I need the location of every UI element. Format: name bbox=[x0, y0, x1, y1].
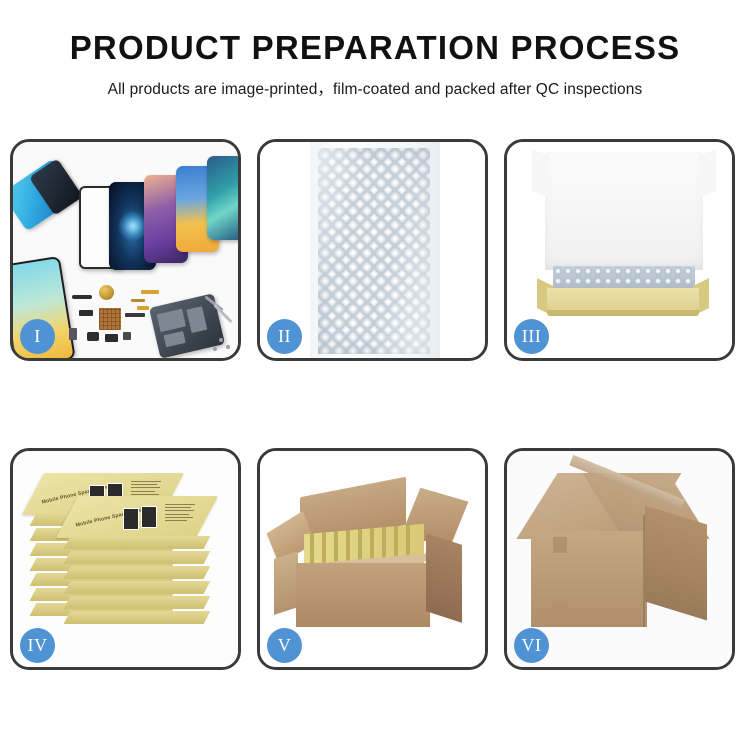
carton-front-face bbox=[296, 563, 430, 627]
vibration-motor-icon bbox=[99, 285, 114, 300]
logic-board-chip-icon bbox=[99, 308, 121, 330]
phone-teal-wallpaper-icon bbox=[207, 156, 238, 240]
sealed-carton-front-face bbox=[531, 531, 647, 627]
step-badge-6: VI bbox=[514, 628, 549, 663]
step-badge-1: I bbox=[20, 319, 55, 354]
step-badge-3: III bbox=[514, 319, 549, 354]
step-panel-1: I bbox=[10, 139, 241, 361]
carton-seam-tab-bottom bbox=[553, 603, 567, 619]
step-panel-4: Mobile Phone Spare Parts bbox=[10, 448, 241, 670]
power-button-flex-icon bbox=[131, 299, 145, 302]
antenna-flex-icon bbox=[125, 313, 145, 317]
retail-box-side-face bbox=[64, 566, 211, 579]
speaker-icon bbox=[87, 332, 99, 341]
box-thumbnail-icon bbox=[141, 506, 157, 528]
earpiece-mesh-icon bbox=[72, 295, 92, 299]
step-badge-5: V bbox=[267, 628, 302, 663]
box-thumbnail-icon bbox=[123, 508, 139, 530]
retail-box-side-face bbox=[64, 596, 211, 609]
charging-port-icon bbox=[137, 306, 149, 310]
taptic-engine-icon bbox=[105, 334, 118, 342]
carton-seam-tab-top bbox=[553, 537, 567, 553]
infographic-page: PRODUCT PREPARATION PROCESS All products… bbox=[0, 0, 750, 750]
retail-box-side-face bbox=[64, 551, 211, 564]
page-subtitle: All products are image-printed，film-coat… bbox=[0, 77, 750, 99]
plastic-sheen-overlay bbox=[318, 148, 430, 354]
process-steps-grid: I II III bbox=[10, 139, 740, 670]
screw-icon bbox=[213, 347, 217, 351]
flex-cable-icon bbox=[141, 290, 159, 294]
carton-left-face bbox=[274, 551, 298, 615]
box-spec-lines bbox=[165, 504, 201, 523]
carton-right-face bbox=[426, 533, 462, 623]
screw-icon bbox=[226, 345, 230, 349]
mailer-lid-icon bbox=[545, 152, 703, 270]
step-panel-6: VI bbox=[504, 448, 735, 670]
screw-icon bbox=[219, 338, 223, 342]
page-title: PRODUCT PREPARATION PROCESS bbox=[0, 30, 750, 66]
sealed-carton-edge bbox=[643, 515, 645, 627]
step-panel-3: III bbox=[504, 139, 735, 361]
step-panel-5: V bbox=[257, 448, 488, 670]
sim-tray-icon bbox=[69, 328, 77, 340]
retail-box-side-face bbox=[64, 611, 211, 624]
sealed-carton-right-face bbox=[645, 506, 707, 621]
retail-box-top-face: Mobile Phone Spare Parts bbox=[56, 496, 218, 538]
step-panel-2: II bbox=[257, 139, 488, 361]
retail-box-side-face bbox=[64, 581, 211, 594]
mailer-base-edge bbox=[547, 310, 699, 316]
step-badge-4: IV bbox=[20, 628, 55, 663]
connector-small-icon bbox=[123, 332, 131, 340]
retail-box-side-face bbox=[64, 536, 211, 549]
camera-module-icon bbox=[79, 310, 93, 316]
step-badge-2: II bbox=[267, 319, 302, 354]
header: PRODUCT PREPARATION PROCESS All products… bbox=[0, 0, 750, 99]
